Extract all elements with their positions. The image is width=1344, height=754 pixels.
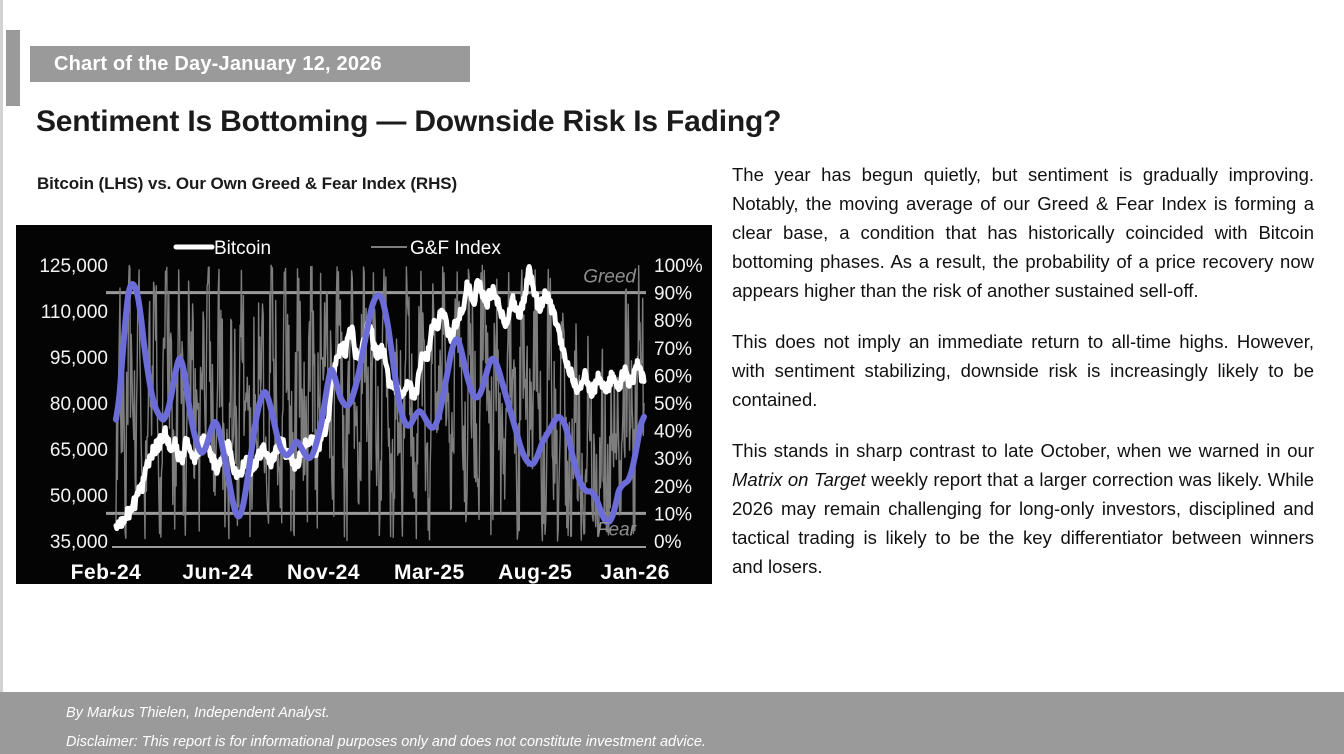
right-axis-tick: 0% xyxy=(654,532,682,553)
legend-label-bitcoin: Bitcoin xyxy=(214,238,271,259)
annotation-fear: Fear xyxy=(597,519,637,540)
left-edge-rule xyxy=(0,0,3,754)
body-text: The year has begun quietly, but sentimen… xyxy=(732,164,1314,301)
footer-bar: By Markus Thielen, Independent Analyst. … xyxy=(0,692,1344,754)
right-axis-tick: 70% xyxy=(654,339,692,360)
x-axis-tick: Nov-24 xyxy=(287,561,360,584)
x-axis-tick: Aug-25 xyxy=(498,561,572,584)
page-title: Sentiment Is Bottoming — Downside Risk I… xyxy=(36,105,781,139)
chart-panel: 125,000110,00095,00080,00065,00050,00035… xyxy=(16,225,712,584)
body-paragraph: This does not imply an immediate return … xyxy=(732,327,1314,414)
body-paragraph: This stands in sharp contrast to late Oc… xyxy=(732,436,1314,581)
left-axis-tick: 125,000 xyxy=(39,256,108,277)
left-axis-tick: 95,000 xyxy=(50,348,108,369)
left-axis-tick: 50,000 xyxy=(50,486,108,507)
right-axis-tick: 90% xyxy=(654,284,692,305)
chart-of-the-day-badge: Chart of the Day-January 12, 2026 xyxy=(30,46,470,82)
right-axis-tick: 20% xyxy=(654,477,692,498)
left-axis-tick: 80,000 xyxy=(50,394,108,415)
byline: By Markus Thielen, Independent Analyst. xyxy=(66,705,330,721)
x-axis-tick: Mar-25 xyxy=(394,561,465,584)
legend-label-gf-index: G&F Index xyxy=(410,238,501,259)
x-axis-tick: Feb-24 xyxy=(71,561,142,584)
body-text: This stands in sharp contrast to late Oc… xyxy=(732,440,1314,461)
series-gf-index-raw xyxy=(116,265,644,541)
right-axis-tick: 60% xyxy=(654,366,692,387)
right-axis-tick: 80% xyxy=(654,311,692,332)
x-axis-tick: Jun-24 xyxy=(182,561,253,584)
left-accent-tab xyxy=(6,30,20,106)
annotation-greed: Greed xyxy=(583,267,637,288)
left-axis-tick: 35,000 xyxy=(50,532,108,553)
chart-svg: 125,000110,00095,00080,00065,00050,00035… xyxy=(16,225,712,584)
left-axis-tick: 65,000 xyxy=(50,440,108,461)
right-axis-tick: 10% xyxy=(654,504,692,525)
right-axis-tick: 40% xyxy=(654,422,692,443)
right-axis-tick: 100% xyxy=(654,256,703,277)
x-axis-tick: Jan-26 xyxy=(600,561,670,584)
emphasis-text: Matrix on Target xyxy=(732,469,866,490)
right-axis-tick: 30% xyxy=(654,449,692,470)
article-body: The year has begun quietly, but sentimen… xyxy=(732,160,1314,581)
body-text: This does not imply an immediate return … xyxy=(732,331,1314,410)
right-axis-tick: 50% xyxy=(654,394,692,415)
body-paragraph: The year has begun quietly, but sentimen… xyxy=(732,160,1314,305)
chart-subtitle: Bitcoin (LHS) vs. Our Own Greed & Fear I… xyxy=(37,174,457,194)
disclaimer: Disclaimer: This report is for informati… xyxy=(66,734,706,750)
left-axis-tick: 110,000 xyxy=(41,302,108,323)
